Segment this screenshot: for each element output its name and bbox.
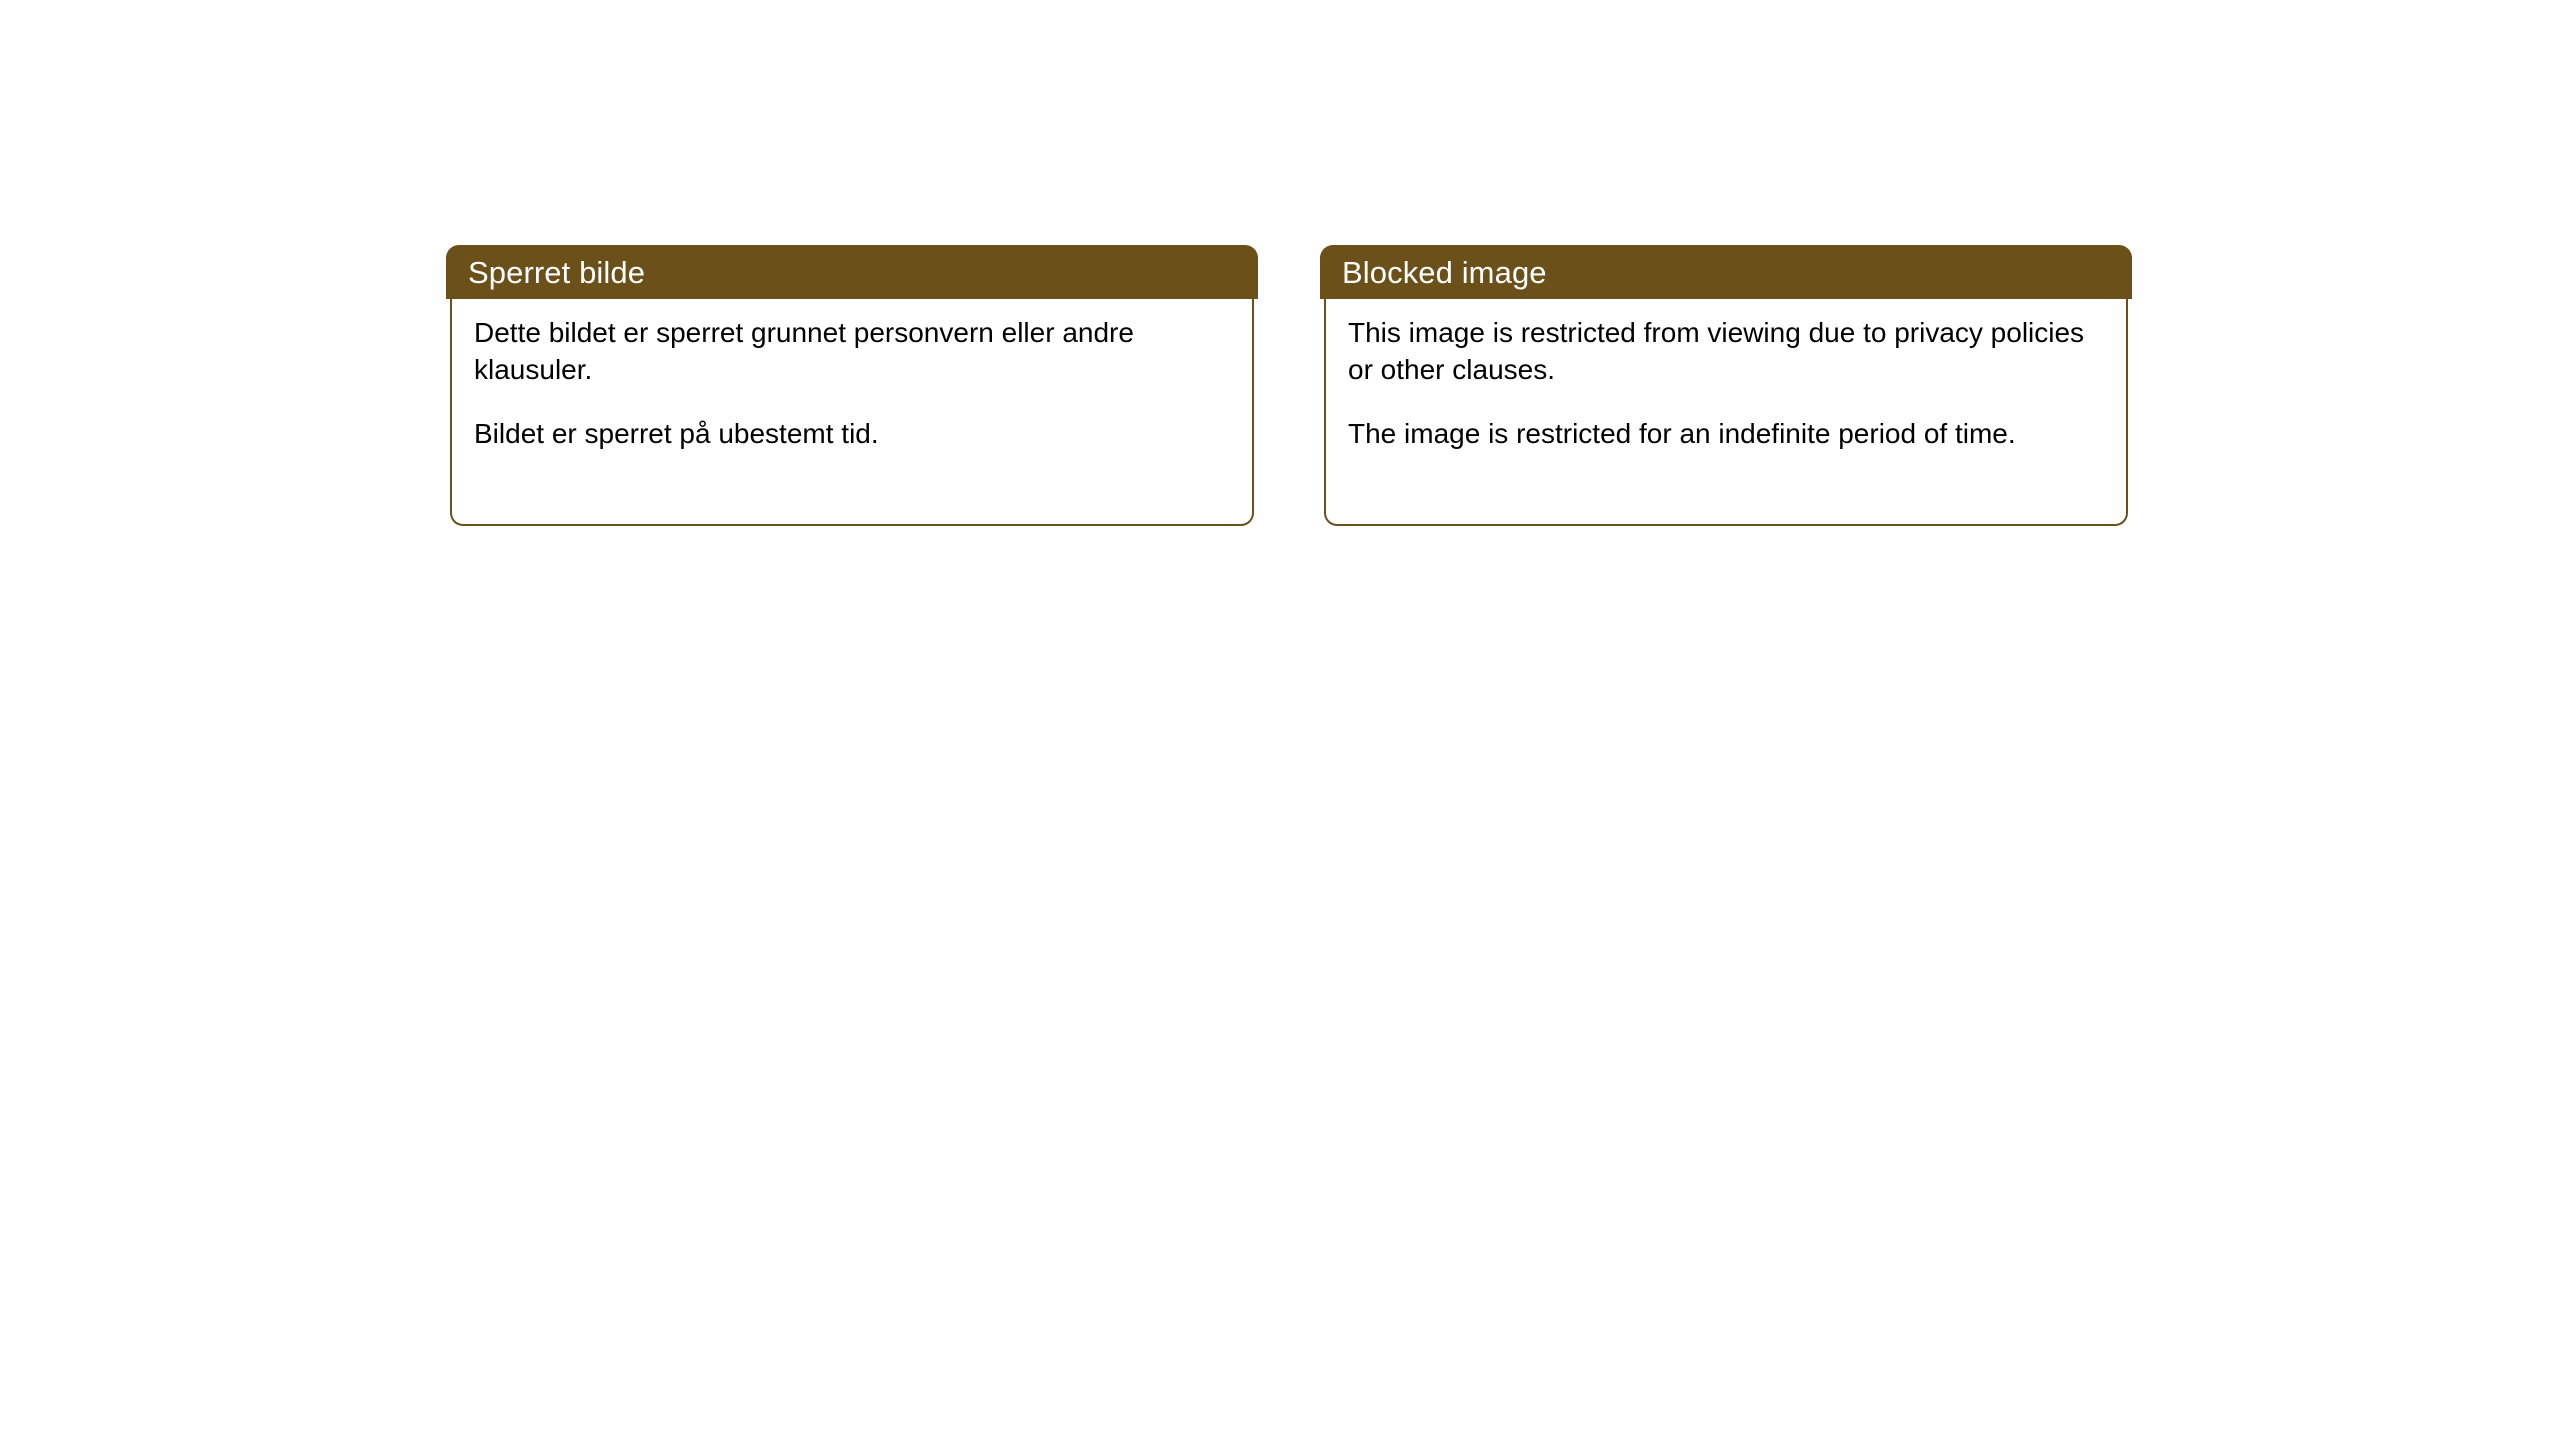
blocked-image-notice-panel-no: Sperret bilde Dette bildet er sperret gr… [446,245,1258,526]
blocked-image-notice-group: Sperret bilde Dette bildet er sperret gr… [446,245,2132,526]
page-root: { "page": { "background_color": "#ffffff… [0,0,2560,1440]
panel-title-no: Sperret bilde [468,257,645,288]
panel-paragraph-no-2: Bildet er sperret på ubestemt tid. [474,415,1232,452]
panel-title-en: Blocked image [1342,257,1547,288]
panel-body-en: This image is restricted from viewing du… [1324,298,2128,526]
panel-body-no: Dette bildet er sperret grunnet personve… [450,298,1254,526]
panel-header-no: Sperret bilde [446,245,1258,299]
panel-paragraph-en-2: The image is restricted for an indefinit… [1348,415,2106,452]
panel-paragraph-en-1: This image is restricted from viewing du… [1348,314,2106,388]
panel-header-en: Blocked image [1320,245,2132,299]
blocked-image-notice-panel-en: Blocked image This image is restricted f… [1320,245,2132,526]
panel-paragraph-no-1: Dette bildet er sperret grunnet personve… [474,314,1232,388]
